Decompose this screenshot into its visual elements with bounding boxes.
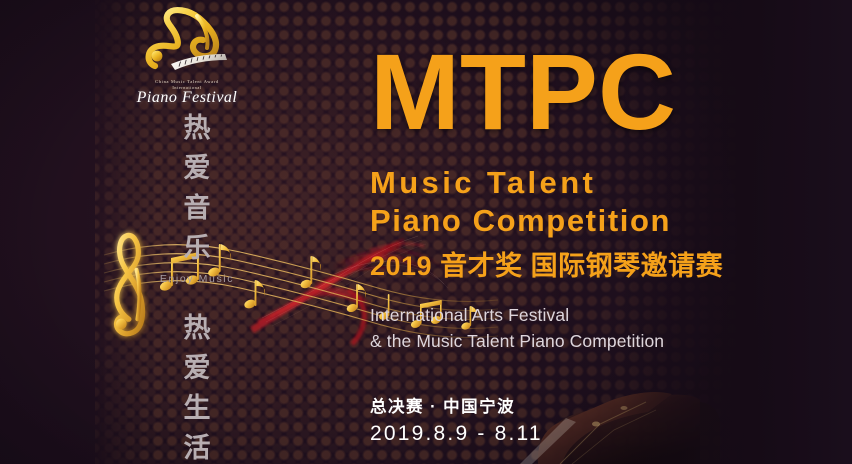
title-line-1: Music Talent [370, 164, 840, 202]
date-range: 2019.8.9 - 8.11 [370, 420, 543, 448]
slogan-char: 生 [137, 388, 257, 428]
slogan-char: 热 [137, 108, 257, 148]
subtitle-line-1: International Arts Festival [370, 302, 840, 328]
slogan-char: 活 [137, 428, 257, 464]
slogan-enjoy-music: 热 爱 音 乐 Enjoy Music [137, 108, 257, 285]
slogan-char: 乐 [137, 228, 257, 268]
venue-text: 总决赛 · 中国宁波 [370, 396, 543, 418]
acronym-title: MTPC [370, 40, 840, 144]
festival-logo: China Music Talent Award International P… [128, 4, 246, 112]
slogan-english: Enjoy Music [137, 273, 257, 285]
subtitle-line-2: & the Music Talent Piano Competition [370, 328, 840, 354]
title-line-2: Piano Competition [370, 202, 840, 240]
venue-date-block: 总决赛 · 中国宁波 2019.8.9 - 8.11 [370, 396, 543, 448]
slogan-char: 爱 [137, 348, 257, 388]
logo-wordmark: Piano Festival [128, 89, 246, 107]
chinese-title: 2019 音才奖 国际钢琴邀请赛 [370, 249, 840, 283]
slogan-char: 爱 [137, 148, 257, 188]
piano-ribbon-logo-icon [137, 4, 237, 78]
slogan-char: 音 [137, 188, 257, 228]
slogan-char: 热 [137, 308, 257, 348]
main-title-block: MTPC Music Talent Piano Competition 2019… [370, 40, 840, 354]
poster-canvas: China Music Talent Award International P… [0, 0, 852, 464]
slogan-enjoy-life: 热 爱 生 活 Enjoy your life [137, 308, 257, 464]
